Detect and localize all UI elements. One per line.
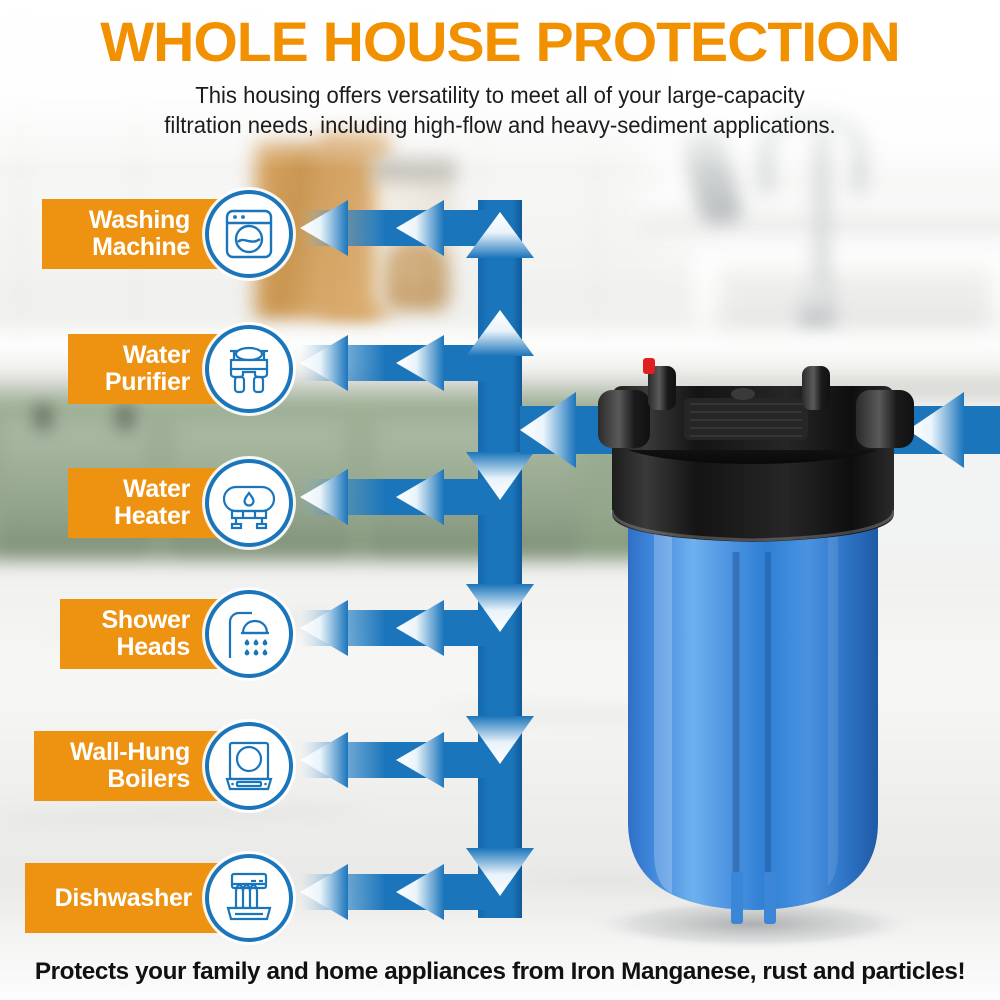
washing-machine-icon[interactable] — [205, 190, 293, 278]
flow-branch-water-heater — [300, 469, 490, 525]
subtitle-line-2: filtration needs, including high-flow an… — [20, 110, 980, 140]
product-sump — [628, 520, 878, 924]
subtitle-line-1: This housing offers versatility to meet … — [20, 80, 980, 110]
product-bolt-tower-right — [802, 366, 830, 410]
boiler-icon[interactable] — [205, 722, 293, 810]
flow-branch-water-purifier — [300, 335, 490, 391]
footer-text: Protects your family and home appliances… — [5, 958, 995, 986]
header: WHOLE HOUSE PROTECTION This housing offe… — [0, 0, 1000, 140]
flow-branch-shower-heads — [300, 600, 490, 656]
label-line-1: Dishwasher — [55, 885, 192, 912]
product-outlet-port-right — [856, 390, 914, 448]
label-line-2: Machine — [89, 234, 190, 261]
label-line-1: Water — [114, 476, 190, 503]
shower-head-icon[interactable] — [205, 590, 293, 678]
product-center-nub — [731, 388, 755, 400]
infographic-canvas: WHOLE HOUSE PROTECTION This housing offe… — [0, 0, 1000, 1000]
label-line-1: Wall-Hung — [70, 739, 190, 766]
label-line-1: Water — [105, 342, 190, 369]
water-purifier-icon[interactable] — [205, 325, 293, 413]
page-title: WHOLE HOUSE PROTECTION — [0, 12, 1000, 72]
water-heater-icon[interactable] — [205, 459, 293, 547]
label-line-1: Washing — [89, 207, 190, 234]
product-pressure-relief-button — [643, 358, 655, 374]
flow-trunk — [478, 200, 522, 918]
label-line-1: Shower — [102, 607, 191, 634]
flow-branch-washing-machine — [300, 200, 490, 256]
product-inlet-port-left — [598, 390, 650, 448]
product-cap-head — [598, 358, 914, 450]
flow-branch-wall-hung-boilers — [300, 732, 490, 788]
filter-housing-product — [588, 352, 1000, 952]
label-line-2: Heads — [102, 634, 191, 661]
label-line-2: Heater — [114, 503, 190, 530]
label-line-2: Purifier — [105, 369, 190, 396]
dishwasher-icon[interactable] — [205, 854, 293, 942]
flow-branch-dishwasher — [300, 864, 490, 920]
label-line-2: Boilers — [70, 766, 190, 793]
